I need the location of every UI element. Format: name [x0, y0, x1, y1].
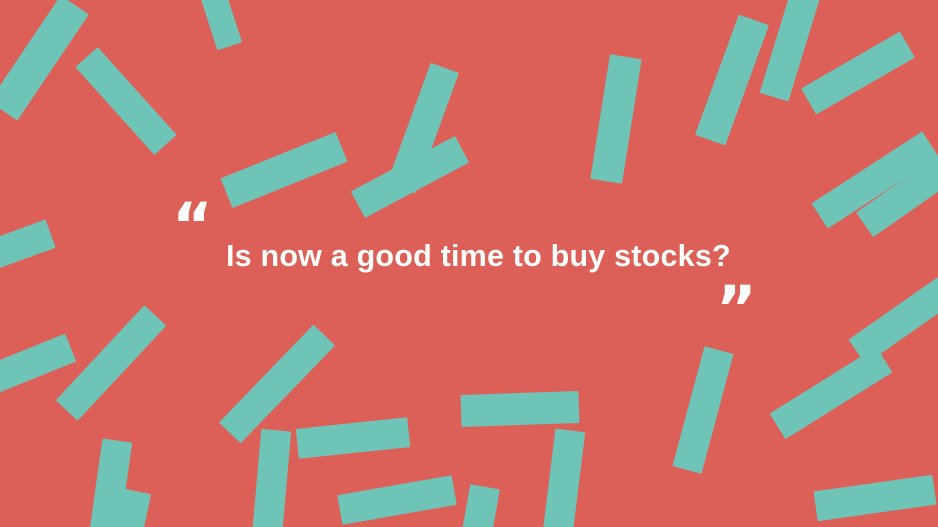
quote-block: “ Is now a good time to buy stocks? ” [0, 0, 938, 527]
opening-quotation-mark-icon: “ [172, 195, 211, 257]
quote-slide: “ Is now a good time to buy stocks? ” [0, 0, 938, 527]
closing-quotation-mark-icon: ” [716, 278, 755, 340]
quote-text: Is now a good time to buy stocks? [226, 237, 786, 275]
